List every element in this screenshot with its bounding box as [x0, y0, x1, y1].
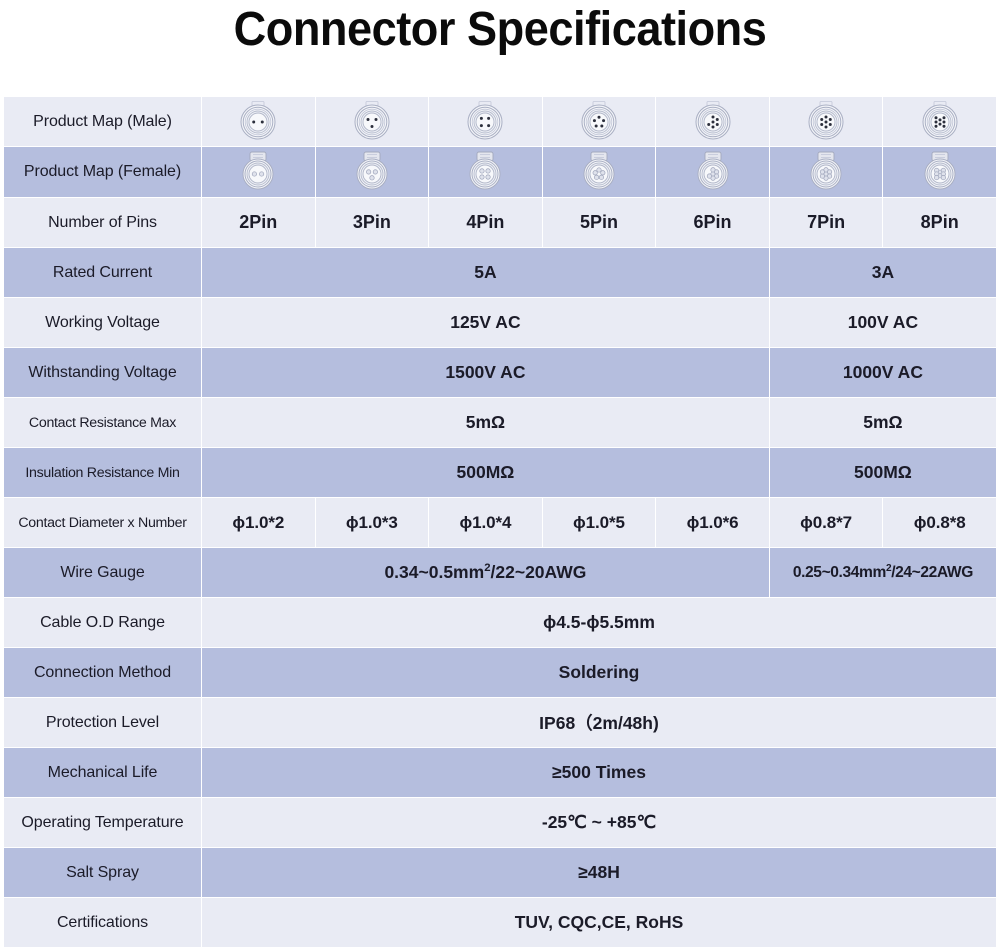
- cell-value: ϕ1.0*6: [656, 498, 770, 548]
- cell-value-right: 100V AC: [769, 298, 996, 348]
- row-label: Withstanding Voltage: [4, 348, 202, 398]
- cell-value: 6Pin: [656, 198, 770, 248]
- table-row: CertificationsTUV, CQC,CE, RoHS: [4, 898, 997, 948]
- connector-spec-sheet: Connector Specifications Product Map (Ma…: [0, 0, 1000, 943]
- cell-value-left: 0.34~0.5mm2/22~20AWG: [202, 548, 770, 598]
- table-row: Salt Spray≥48H: [4, 848, 997, 898]
- table-body: Product Map (Male): [4, 97, 997, 948]
- cell-value: ϕ1.0*5: [542, 498, 656, 548]
- female-connector-icon: [656, 147, 770, 198]
- cell-value-full: TUV, CQC,CE, RoHS: [202, 898, 997, 948]
- table-row: Wire Gauge0.34~0.5mm2/22~20AWG0.25~0.34m…: [4, 548, 997, 598]
- cell-value: ϕ1.0*3: [315, 498, 429, 548]
- male-connector-icon: [769, 97, 883, 147]
- row-label: Product Map (Male): [4, 97, 202, 147]
- row-label: Operating Temperature: [4, 798, 202, 848]
- cell-value: 5Pin: [542, 198, 656, 248]
- cell-value-right: 3A: [769, 248, 996, 298]
- table-row: Insulation Resistance Min500MΩ500MΩ: [4, 448, 997, 498]
- table-row: Contact Diameter x Numberϕ1.0*2ϕ1.0*3ϕ1.…: [4, 498, 997, 548]
- connector-specifications-table: Product Map (Male): [3, 96, 997, 948]
- male-connector-icon: [429, 97, 543, 147]
- row-label: Connection Method: [4, 648, 202, 698]
- cell-value: 2Pin: [202, 198, 316, 248]
- row-label: Protection Level: [4, 698, 202, 748]
- table-row: Number of Pins2Pin3Pin4Pin5Pin6Pin7Pin8P…: [4, 198, 997, 248]
- row-label: Contact Resistance Max: [4, 398, 202, 448]
- cell-value-full: ϕ4.5-ϕ5.5mm: [202, 598, 997, 648]
- female-connector-icon: [883, 147, 997, 198]
- table-row: Contact Resistance Max5mΩ5mΩ: [4, 398, 997, 448]
- row-label: Rated Current: [4, 248, 202, 298]
- table-row: Mechanical Life≥500 Times: [4, 748, 997, 798]
- row-label: Product Map (Female): [4, 147, 202, 198]
- cell-value: ϕ1.0*4: [429, 498, 543, 548]
- cell-value: 3Pin: [315, 198, 429, 248]
- cell-value-left: 1500V AC: [202, 348, 770, 398]
- cell-value-full: -25℃ ~ +85℃: [202, 798, 997, 848]
- row-label: Contact Diameter x Number: [4, 498, 202, 548]
- page-title: Connector Specifications: [30, 2, 970, 58]
- female-connector-icon: [429, 147, 543, 198]
- cell-value-full: ≥500 Times: [202, 748, 997, 798]
- cell-value: 4Pin: [429, 198, 543, 248]
- row-label: Number of Pins: [4, 198, 202, 248]
- row-label: Mechanical Life: [4, 748, 202, 798]
- cell-value-left: 5A: [202, 248, 770, 298]
- cell-value: ϕ0.8*8: [883, 498, 997, 548]
- cell-value-right: 1000V AC: [769, 348, 996, 398]
- cell-value-left: 5mΩ: [202, 398, 770, 448]
- table-row: Working Voltage125V AC100V AC: [4, 298, 997, 348]
- row-label: Wire Gauge: [4, 548, 202, 598]
- cell-value: ϕ1.0*2: [202, 498, 316, 548]
- cell-value-full: IP68（2m/48h): [202, 698, 997, 748]
- cell-value: 8Pin: [883, 198, 997, 248]
- cell-value-left: 125V AC: [202, 298, 770, 348]
- table-row: Connection MethodSoldering: [4, 648, 997, 698]
- table-row: Protection LevelIP68（2m/48h): [4, 698, 997, 748]
- female-connector-icon: [769, 147, 883, 198]
- row-label: Salt Spray: [4, 848, 202, 898]
- female-connector-icon: [542, 147, 656, 198]
- table-row: Operating Temperature-25℃ ~ +85℃: [4, 798, 997, 848]
- cell-value-right: 500MΩ: [769, 448, 996, 498]
- male-connector-icon: [202, 97, 316, 147]
- female-connector-icon: [202, 147, 316, 198]
- cell-value-full: Soldering: [202, 648, 997, 698]
- row-label: Certifications: [4, 898, 202, 948]
- cell-value: 7Pin: [769, 198, 883, 248]
- cell-value: ϕ0.8*7: [769, 498, 883, 548]
- row-label: Cable O.D Range: [4, 598, 202, 648]
- row-label: Insulation Resistance Min: [4, 448, 202, 498]
- male-connector-icon: [883, 97, 997, 147]
- table-row: Withstanding Voltage1500V AC1000V AC: [4, 348, 997, 398]
- row-label: Working Voltage: [4, 298, 202, 348]
- cell-value-right: 5mΩ: [769, 398, 996, 448]
- cell-value-right: 0.25~0.34mm2/24~22AWG: [769, 548, 996, 598]
- female-connector-icon: [315, 147, 429, 198]
- table-row: Rated Current5A3A: [4, 248, 997, 298]
- male-connector-icon: [315, 97, 429, 147]
- male-connector-icon: [656, 97, 770, 147]
- table-row: Cable O.D Rangeϕ4.5-ϕ5.5mm: [4, 598, 997, 648]
- table-row: Product Map (Female): [4, 147, 997, 198]
- table-row: Product Map (Male): [4, 97, 997, 147]
- cell-value-left: 500MΩ: [202, 448, 770, 498]
- cell-value-full: ≥48H: [202, 848, 997, 898]
- male-connector-icon: [542, 97, 656, 147]
